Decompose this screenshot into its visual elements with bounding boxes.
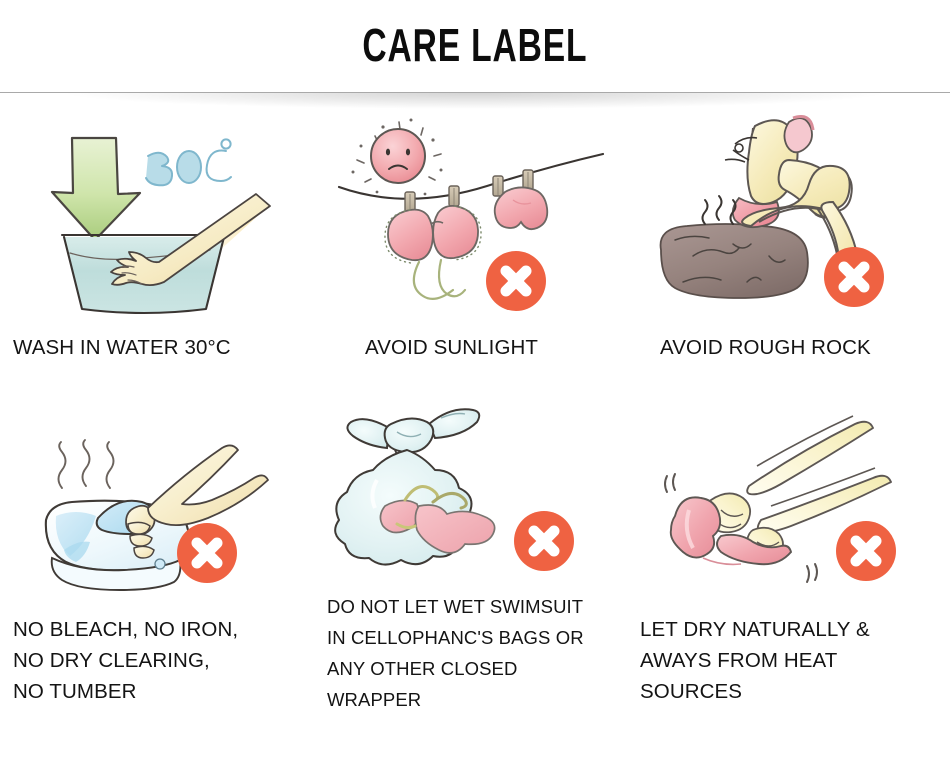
- care-instruction-no-closed-wrapper: DO NOT LET WET SWIMSUIT IN CELLOPHANC'S …: [315, 392, 627, 781]
- wash-basin-icon: [56, 120, 276, 320]
- page-header: CARE LABEL: [0, 0, 950, 92]
- prohibition-badge-icon: [823, 246, 885, 308]
- care-instruction-let-dry-naturally: LET DRY NATURALLY & AWAYS FROM HEAT SOUR…: [627, 392, 950, 781]
- care-instruction-caption: AVOID ROUGH ROCK: [660, 332, 871, 363]
- care-instruction-no-bleach-no-iron: NO BLEACH, NO IRON, NO DRY CLEARING, NO …: [0, 392, 315, 781]
- care-instruction-grid: WASH IN WATER 30°C: [0, 96, 950, 781]
- care-instruction-caption: NO BLEACH, NO IRON, NO DRY CLEARING, NO …: [13, 614, 238, 707]
- prohibition-badge-icon: [485, 250, 547, 312]
- care-instruction-wash-in-water: WASH IN WATER 30°C: [0, 96, 315, 392]
- care-instruction-avoid-sunlight: AVOID SUNLIGHT: [315, 96, 627, 392]
- care-instruction-caption: DO NOT LET WET SWIMSUIT IN CELLOPHANC'S …: [327, 591, 584, 715]
- sitting-on-rock-icon: [647, 104, 937, 334]
- prohibition-badge-icon: [513, 510, 575, 572]
- sun-clothesline-icon: [337, 114, 607, 324]
- header-divider: [0, 92, 950, 93]
- page-title: CARE LABEL: [363, 20, 588, 72]
- care-instruction-caption: WASH IN WATER 30°C: [13, 332, 231, 363]
- care-instruction-caption: LET DRY NATURALLY & AWAYS FROM HEAT SOUR…: [640, 614, 870, 707]
- care-instruction-avoid-rough-rock: AVOID ROUGH ROCK: [627, 96, 950, 392]
- iron-icon: [36, 412, 286, 612]
- care-instruction-caption: AVOID SUNLIGHT: [365, 332, 538, 363]
- prohibition-badge-icon: [835, 520, 897, 582]
- prohibition-badge-icon: [176, 522, 238, 584]
